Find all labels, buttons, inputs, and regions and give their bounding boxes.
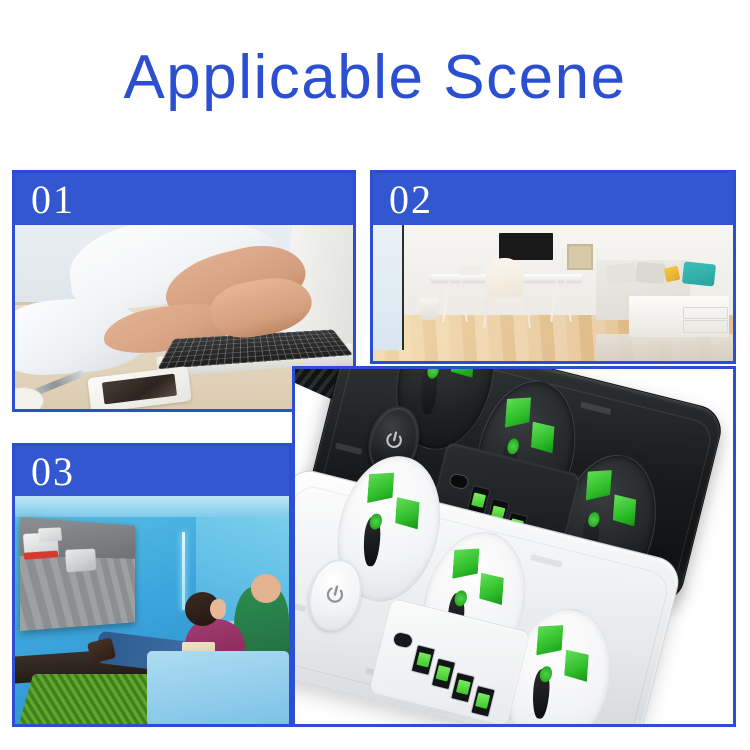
scene-photo-bright-living-room-interior bbox=[373, 225, 733, 361]
teal-cushion bbox=[682, 261, 716, 286]
socket-pin-right-icon bbox=[531, 421, 555, 453]
scene-photo-home-theater-movie-night bbox=[15, 496, 289, 724]
area-rug bbox=[596, 334, 733, 361]
white-usb-a-port-1[interactable] bbox=[411, 644, 436, 676]
white-usb-c-port[interactable] bbox=[391, 631, 414, 650]
power-symbol-icon bbox=[319, 575, 351, 615]
product-photo bbox=[295, 369, 733, 724]
product-marketing-image: Applicable Scene 01 bbox=[0, 0, 750, 750]
socket-pin-left-icon bbox=[586, 469, 612, 503]
white-usb-a-port-2[interactable] bbox=[430, 658, 455, 690]
power-symbol-icon bbox=[379, 421, 410, 461]
socket-pin-left-icon bbox=[452, 547, 479, 581]
socket-pin-right-icon bbox=[479, 573, 504, 605]
chair-legs bbox=[483, 298, 530, 327]
theater-ceiling bbox=[15, 496, 289, 517]
scene-number-badge-01: 01 bbox=[15, 173, 353, 225]
socket-pin-dot-icon bbox=[453, 589, 468, 607]
black-usb-c-port[interactable] bbox=[448, 472, 470, 490]
waste-bin bbox=[420, 298, 438, 320]
desk-organizer bbox=[459, 266, 481, 276]
white-chair bbox=[485, 258, 525, 299]
white-usb-a-port-3[interactable] bbox=[450, 672, 475, 704]
scene-number-label-01: 01 bbox=[31, 176, 353, 224]
older-child-head bbox=[251, 574, 281, 604]
socket-pin-right-icon bbox=[451, 369, 475, 378]
scene-number-label-03: 03 bbox=[31, 448, 289, 496]
socket-pin-left-icon bbox=[505, 395, 531, 429]
blue-sofa bbox=[147, 651, 289, 724]
scene-card-03: 03 bbox=[12, 443, 292, 727]
race-car-2 bbox=[66, 548, 97, 572]
socket-pin-left-icon bbox=[367, 471, 394, 505]
socket-pin-dot-icon bbox=[506, 437, 521, 455]
socket-pin-left-icon bbox=[536, 623, 563, 657]
wall-tv bbox=[499, 233, 553, 260]
scene-number-label-02: 02 bbox=[389, 176, 733, 224]
socket-pin-right-icon bbox=[612, 495, 636, 527]
product-photo-card bbox=[292, 366, 736, 727]
led-light-strip bbox=[182, 532, 185, 610]
white-usb-a-port-4[interactable] bbox=[470, 685, 495, 717]
table-drawer-2 bbox=[683, 320, 728, 333]
scene-number-badge-02: 02 bbox=[373, 173, 733, 225]
projection-screen bbox=[20, 517, 135, 631]
table-drawer-1 bbox=[683, 307, 728, 320]
picture-frame bbox=[567, 244, 593, 270]
window bbox=[373, 225, 404, 350]
socket-pin-right-icon bbox=[394, 497, 419, 529]
page-title: Applicable Scene bbox=[0, 42, 750, 114]
smartphone-screen bbox=[102, 373, 177, 404]
scene-card-02: 02 bbox=[370, 170, 736, 364]
sofa-cushion-2 bbox=[635, 262, 665, 285]
socket-pin-right-icon bbox=[564, 650, 589, 682]
child-face bbox=[210, 599, 226, 620]
scene-number-badge-03: 03 bbox=[15, 446, 289, 496]
race-car-3 bbox=[38, 527, 62, 541]
